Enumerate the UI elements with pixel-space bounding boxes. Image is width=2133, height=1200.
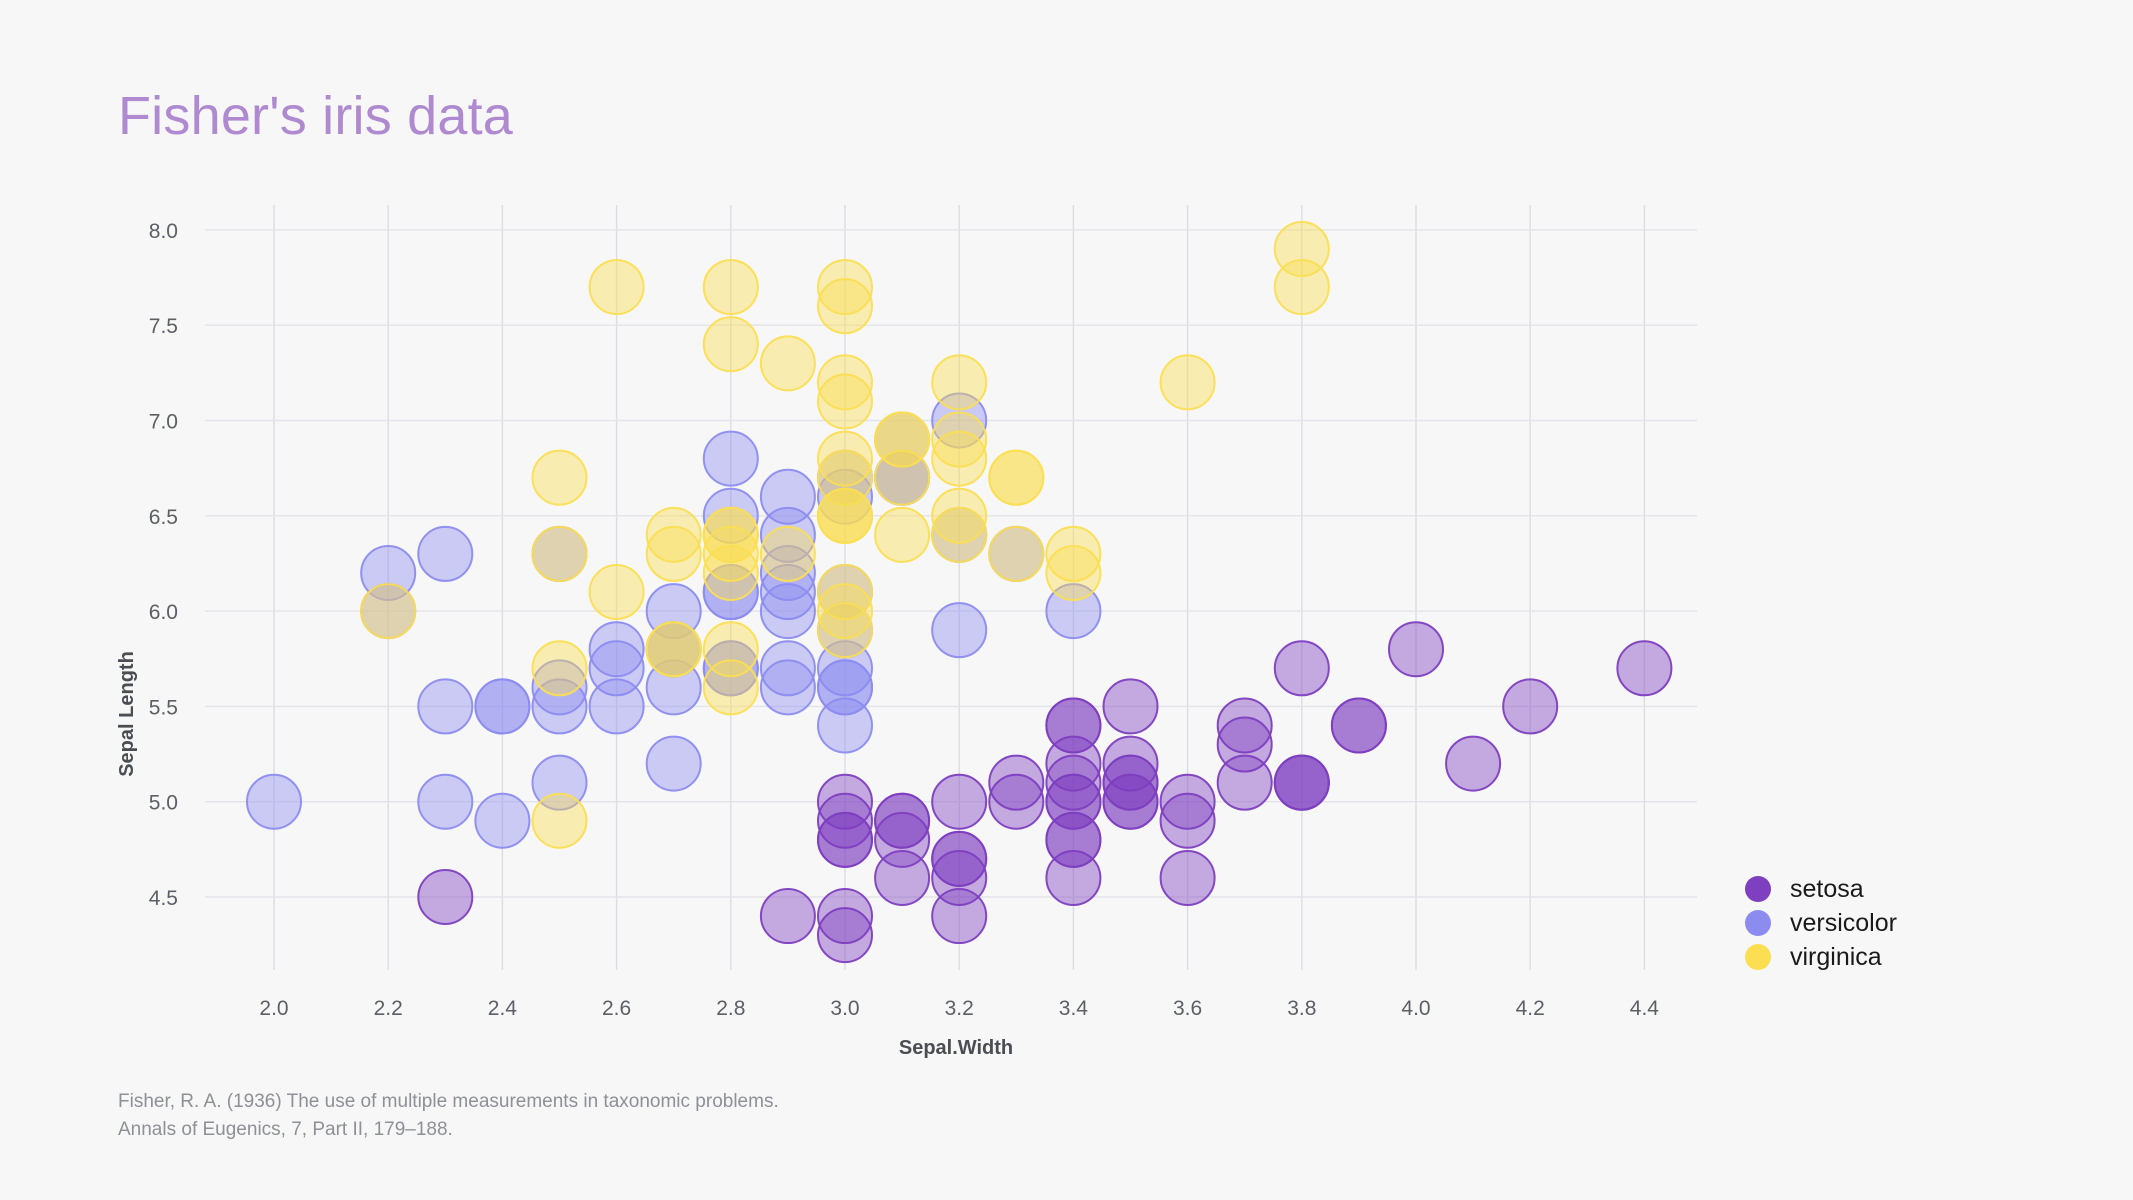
x-tick-label: 4.0: [1401, 997, 1430, 1020]
legend-item-virginica[interactable]: virginica: [1745, 940, 1897, 974]
data-point-versicolor[interactable]: [247, 775, 301, 829]
data-point-virginica[interactable]: [704, 527, 758, 581]
data-point-virginica[interactable]: [818, 260, 872, 314]
data-point-virginica[interactable]: [704, 660, 758, 714]
x-tick-label: 3.4: [1059, 997, 1089, 1020]
data-point-setosa[interactable]: [932, 851, 986, 905]
legend-swatch-versicolor: [1745, 910, 1771, 936]
data-point-setosa[interactable]: [1275, 641, 1329, 695]
y-tick-label: 6.0: [149, 601, 178, 624]
data-point-versicolor[interactable]: [647, 737, 701, 791]
data-point-virginica[interactable]: [989, 451, 1043, 505]
x-tick-label: 2.8: [716, 997, 745, 1020]
data-point-virginica[interactable]: [647, 622, 701, 676]
data-point-virginica[interactable]: [590, 260, 644, 314]
y-tick-label: 6.5: [149, 506, 178, 529]
data-point-setosa[interactable]: [1218, 718, 1272, 772]
data-point-virginica[interactable]: [932, 432, 986, 486]
data-point-versicolor[interactable]: [418, 775, 472, 829]
data-point-virginica[interactable]: [875, 508, 929, 562]
y-tick-label: 8.0: [149, 220, 178, 243]
data-point-virginica[interactable]: [704, 260, 758, 314]
data-point-virginica[interactable]: [361, 584, 415, 638]
data-point-versicolor[interactable]: [761, 641, 815, 695]
data-point-versicolor[interactable]: [418, 679, 472, 733]
legend-label-virginica: virginica: [1790, 943, 1882, 972]
legend-swatch-virginica: [1745, 944, 1771, 970]
data-point-setosa[interactable]: [1161, 851, 1215, 905]
legend-label-versicolor: versicolor: [1790, 909, 1897, 938]
x-tick-label: 3.2: [945, 997, 974, 1020]
legend-label-setosa: setosa: [1790, 875, 1864, 904]
caption-line-2: Annals of Eugenics, 7, Part II, 179–188.: [118, 1116, 779, 1144]
y-tick-label: 5.0: [149, 792, 178, 815]
data-point-setosa[interactable]: [1046, 698, 1100, 752]
data-point-setosa[interactable]: [1389, 622, 1443, 676]
data-point-setosa[interactable]: [1046, 756, 1100, 810]
x-tick-label: 3.6: [1173, 997, 1202, 1020]
data-point-virginica[interactable]: [818, 355, 872, 409]
data-point-virginica[interactable]: [761, 336, 815, 390]
x-tick-label: 4.2: [1516, 997, 1545, 1020]
data-point-virginica[interactable]: [533, 794, 587, 848]
data-point-versicolor[interactable]: [418, 527, 472, 581]
y-tick-label: 4.5: [149, 887, 178, 910]
legend-swatch-setosa: [1745, 876, 1771, 902]
data-point-versicolor[interactable]: [932, 603, 986, 657]
data-point-versicolor[interactable]: [475, 794, 529, 848]
data-point-setosa[interactable]: [818, 813, 872, 867]
data-point-setosa[interactable]: [1104, 775, 1158, 829]
x-tick-label: 2.6: [602, 997, 631, 1020]
data-point-setosa[interactable]: [761, 889, 815, 943]
data-point-virginica[interactable]: [704, 317, 758, 371]
legend: setosa versicolor virginica: [1745, 872, 1897, 974]
data-point-setosa[interactable]: [418, 870, 472, 924]
x-tick-label: 3.0: [830, 997, 859, 1020]
data-point-virginica[interactable]: [1161, 355, 1215, 409]
data-point-setosa[interactable]: [989, 775, 1043, 829]
data-point-virginica[interactable]: [533, 527, 587, 581]
data-point-setosa[interactable]: [1332, 698, 1386, 752]
x-tick-label: 3.8: [1287, 997, 1316, 1020]
data-point-virginica[interactable]: [932, 508, 986, 562]
x-axis-title: Sepal.Width: [899, 1037, 1013, 1059]
data-point-versicolor[interactable]: [704, 432, 758, 486]
data-point-versicolor[interactable]: [590, 622, 644, 676]
data-point-setosa[interactable]: [1503, 679, 1557, 733]
x-tick-label: 2.0: [259, 997, 288, 1020]
data-point-virginica[interactable]: [761, 527, 815, 581]
data-point-virginica[interactable]: [818, 603, 872, 657]
data-point-virginica[interactable]: [1046, 546, 1100, 600]
data-point-virginica[interactable]: [818, 489, 872, 543]
data-point-virginica[interactable]: [533, 451, 587, 505]
y-tick-label: 7.5: [149, 315, 178, 338]
data-point-virginica[interactable]: [932, 355, 986, 409]
x-tick-label: 2.2: [374, 997, 403, 1020]
data-point-versicolor[interactable]: [590, 679, 644, 733]
x-tick-label: 2.4: [488, 997, 518, 1020]
y-tick-label: 7.0: [149, 411, 178, 434]
data-point-setosa[interactable]: [818, 889, 872, 943]
scatter-plot: 2.02.22.42.62.83.03.23.43.63.84.04.24.4 …: [0, 0, 2133, 1200]
data-point-setosa[interactable]: [875, 794, 929, 848]
data-point-setosa[interactable]: [1104, 679, 1158, 733]
legend-item-versicolor[interactable]: versicolor: [1745, 906, 1897, 940]
data-point-virginica[interactable]: [590, 565, 644, 619]
data-point-setosa[interactable]: [932, 775, 986, 829]
source-caption: Fisher, R. A. (1936) The use of multiple…: [118, 1088, 779, 1143]
data-point-virginica[interactable]: [533, 641, 587, 695]
data-point-setosa[interactable]: [1161, 794, 1215, 848]
y-axis-title: Sepal Length: [116, 651, 138, 777]
legend-item-setosa[interactable]: setosa: [1745, 872, 1897, 906]
data-point-setosa[interactable]: [1446, 737, 1500, 791]
data-point-virginica[interactable]: [989, 527, 1043, 581]
data-point-setosa[interactable]: [1617, 641, 1671, 695]
y-axis-tick-labels: 4.55.05.56.06.57.07.58.0: [149, 220, 178, 910]
x-axis-tick-labels: 2.02.22.42.62.83.03.23.43.63.84.04.24.4: [259, 997, 1659, 1020]
y-tick-label: 5.5: [149, 696, 178, 719]
data-point-setosa[interactable]: [1275, 756, 1329, 810]
data-point-versicolor[interactable]: [475, 679, 529, 733]
data-point-virginica[interactable]: [1275, 222, 1329, 276]
caption-line-1: Fisher, R. A. (1936) The use of multiple…: [118, 1088, 779, 1116]
data-point-virginica[interactable]: [647, 527, 701, 581]
chart-container: Fisher's iris data 2.02.22.42.62.83.03.2…: [0, 0, 2133, 1200]
x-tick-label: 4.4: [1630, 997, 1660, 1020]
data-point-virginica[interactable]: [875, 413, 929, 467]
